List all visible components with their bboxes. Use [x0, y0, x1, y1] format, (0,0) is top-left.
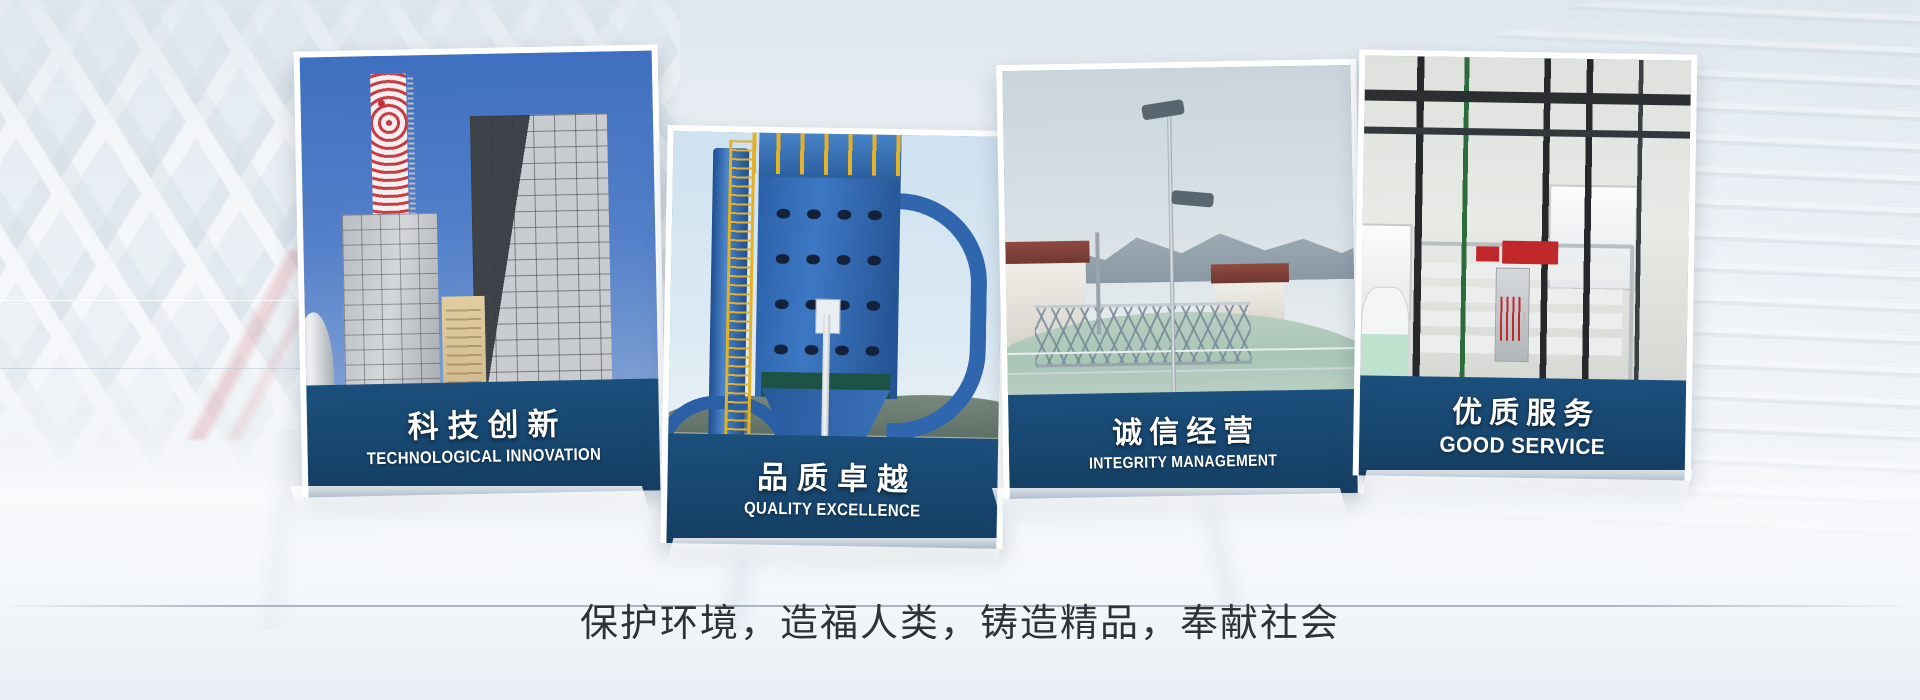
- hero-banner: 科技创新 TECHNOLOGICAL INNOVATION: [0, 0, 1920, 700]
- panel-inner: 诚信经营 INTEGRITY MANAGEMENT: [1002, 65, 1357, 499]
- feature-panel-technological-innovation[interactable]: 科技创新 TECHNOLOGICAL INNOVATION: [294, 44, 667, 497]
- panel-title-cn: 品质卓越: [748, 460, 918, 498]
- panel-caption: 品质卓越 QUALITY EXCELLENCE: [666, 433, 998, 549]
- panel-3-reflection: [992, 488, 1360, 558]
- panel-caption: 诚信经营 INTEGRITY MANAGEMENT: [1008, 389, 1358, 499]
- feature-panel-quality-excellence[interactable]: 品质卓越 QUALITY EXCELLENCE: [660, 125, 1009, 549]
- yellow-guardrail: [752, 131, 908, 176]
- banner-tagline: 保护环境，造福人类，铸造精品，奉献社会: [0, 592, 1920, 647]
- red-signboard-small: [1476, 246, 1499, 261]
- panel-title-en: INTEGRITY MANAGEMENT: [1089, 451, 1278, 473]
- panel-inner: 优质服务 GOOD SERVICE: [1359, 55, 1692, 480]
- feature-panel-group: 科技创新 TECHNOLOGICAL INNOVATION: [0, 0, 1920, 560]
- panel-caption: 科技创新 TECHNOLOGICAL INNOVATION: [306, 378, 660, 497]
- panel-title-en: QUALITY EXCELLENCE: [744, 498, 921, 521]
- control-cabinet: [1494, 268, 1530, 363]
- panel-title-cn: 科技创新: [398, 407, 568, 445]
- panel-title-en: GOOD SERVICE: [1439, 432, 1605, 461]
- panel-title-cn: 诚信经营: [1105, 415, 1261, 451]
- red-signboard: [1502, 240, 1558, 264]
- panel-title-cn: 优质服务: [1445, 395, 1601, 431]
- feature-panel-good-service[interactable]: 优质服务 GOOD SERVICE: [1353, 49, 1698, 480]
- feature-panel-integrity-management[interactable]: 诚信经营 INTEGRITY MANAGEMENT: [996, 59, 1364, 499]
- panel-inner: 品质卓越 QUALITY EXCELLENCE: [666, 131, 1003, 549]
- panel-4-reflection: [1349, 470, 1692, 540]
- dosing-tank: [1360, 286, 1409, 390]
- panel-caption: 优质服务 GOOD SERVICE: [1359, 375, 1687, 480]
- panel-title-en: TECHNOLOGICAL INNOVATION: [366, 444, 601, 469]
- panel-inner: 科技创新 TECHNOLOGICAL INNOVATION: [300, 51, 661, 498]
